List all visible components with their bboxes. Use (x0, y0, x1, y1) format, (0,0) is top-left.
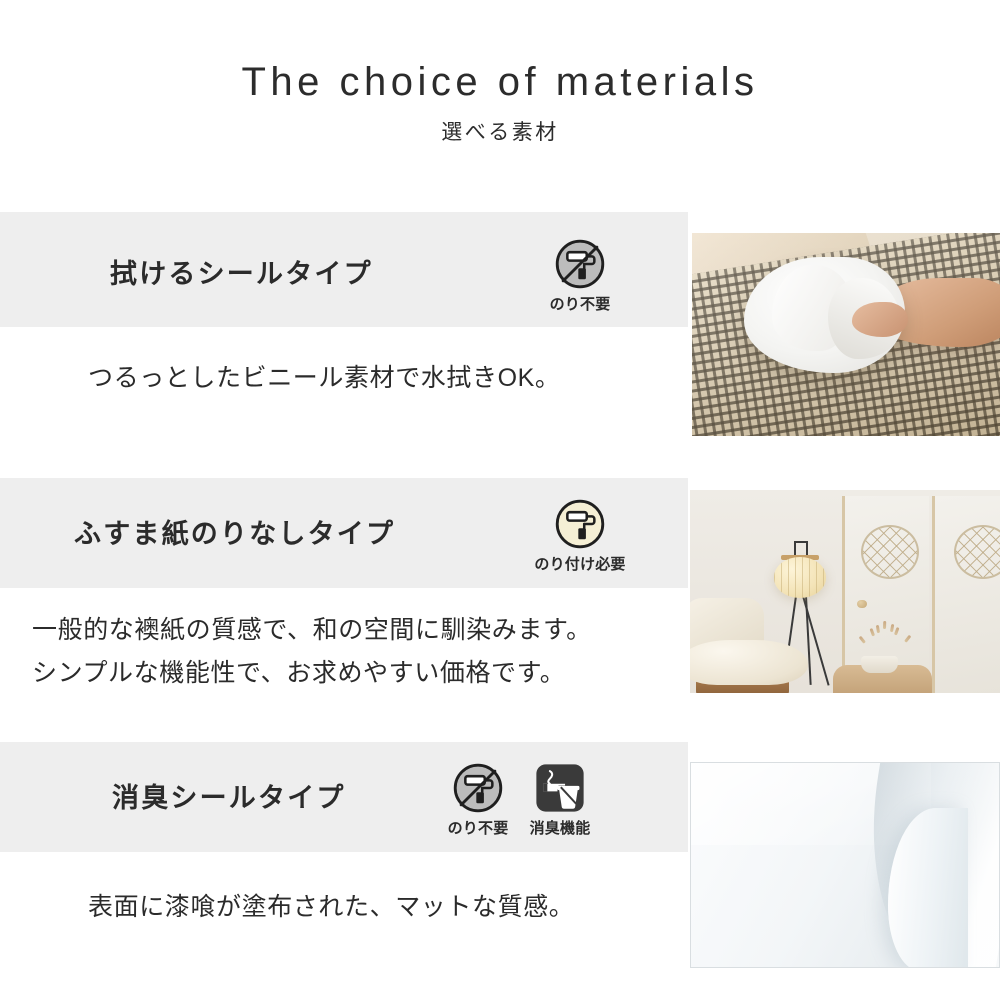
photo-1-thumb (852, 302, 907, 337)
paint-roller-prohibited-icon (553, 237, 607, 291)
japanese-room-interior-photo (690, 490, 1000, 693)
section-3-badges: のり不要 消臭機能 (443, 761, 595, 838)
badge-nori-fuyou: のり不要 (443, 761, 513, 838)
badge-shoushuu-kinou: 消臭機能 (525, 761, 595, 838)
photo-2-boucle-chair (690, 640, 808, 685)
section-2-description-line-1: 一般的な襖紙の質感で、和の空間に馴染みます。 (32, 612, 592, 648)
page-header: The choice of materials 選べる素材 (0, 0, 1000, 190)
page-subtitle: 選べる素材 (0, 116, 1000, 146)
badge-label: のり不要 (550, 293, 611, 314)
paint-roller-prohibited-icon (451, 761, 505, 815)
section-3-title: 消臭シールタイプ (112, 776, 346, 815)
section-3-description-line-1: 表面に漆喰が塗布された、マットな質感。 (88, 889, 574, 925)
badge-nori-fuyou: のり不要 (545, 237, 615, 314)
section-1-badges: のり不要 (545, 237, 615, 314)
photo-2-plant-pot (861, 656, 898, 672)
badge-label: 消臭機能 (530, 817, 591, 838)
photo-2-lamp-ribs (774, 557, 827, 598)
page-title: The choice of materials (0, 60, 1000, 104)
section-2-description-line-2: シンプルな機能性で、お求めやすい価格です。 (32, 655, 565, 691)
deodorize-icon (533, 761, 587, 815)
section-1-title: 拭けるシールタイプ (110, 252, 373, 291)
paint-roller-icon (553, 497, 607, 551)
badge-nori-tsuke-hitsuyou: のり付け必要 (520, 497, 640, 574)
photo-2-door-knob (857, 600, 866, 609)
white-curled-paper-photo (690, 762, 1000, 968)
section-2-badges: のり付け必要 (520, 497, 640, 574)
section-1-description-line-1: つるっとしたビニール素材で水拭きOK。 (88, 360, 561, 396)
badge-label: のり不要 (448, 817, 509, 838)
wiping-rattan-surface-photo (692, 233, 1000, 436)
badge-label: のり付け必要 (534, 553, 625, 574)
section-2-title: ふすま紙のりなしタイプ (74, 512, 395, 551)
